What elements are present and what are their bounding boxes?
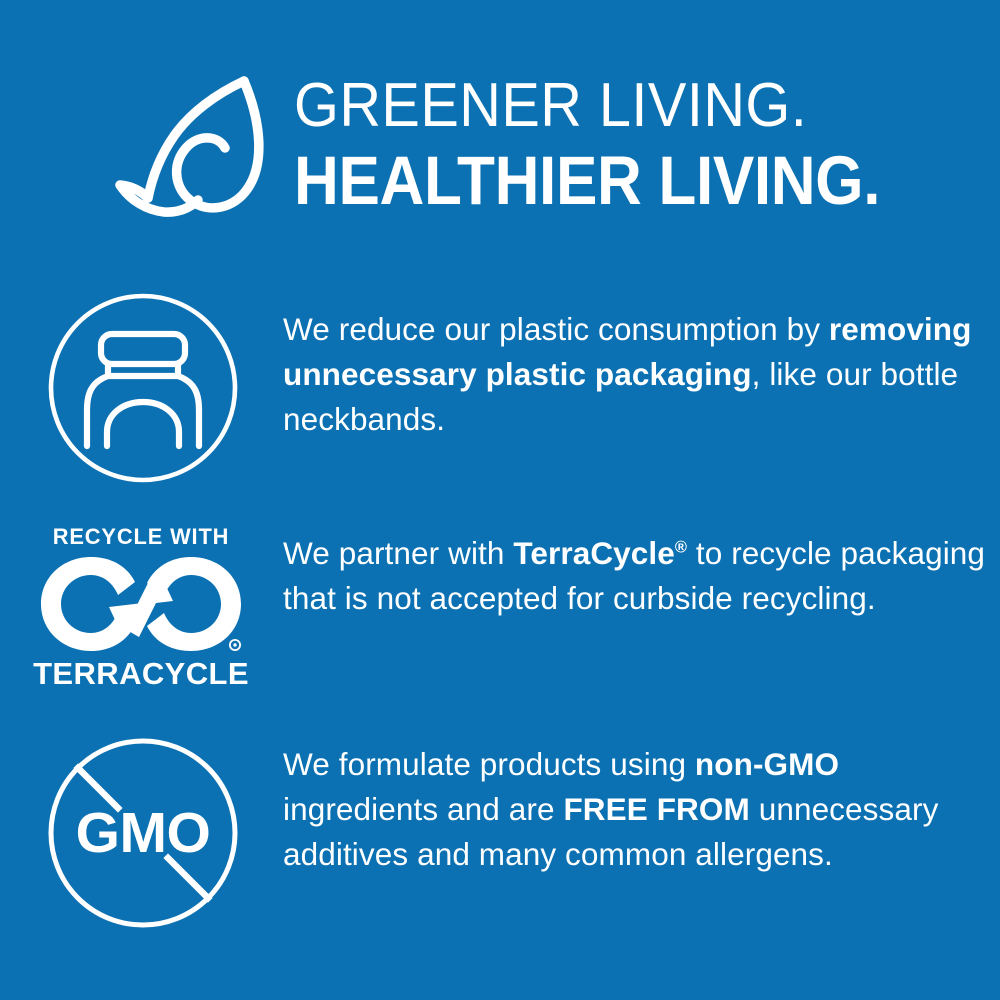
header: GREENER LIVING. HEALTHIER LIVING. xyxy=(0,62,1000,227)
terracycle-lockup: RECYCLE WITH xyxy=(35,526,247,689)
registered-mark-icon xyxy=(229,639,241,651)
feature-text-plastic-reduction: We reduce our plastic consumption by rem… xyxy=(280,288,1000,442)
terracycle-top-label: RECYCLE WITH xyxy=(53,526,230,549)
text-segment: We formulate products using xyxy=(283,746,695,782)
no-gmo-label: GMO xyxy=(76,801,211,865)
infinity-recycle-icon xyxy=(39,555,243,653)
text-segment-bold: non-GMO xyxy=(695,746,839,782)
headline-line-2: HEALTHIER LIVING. xyxy=(294,146,880,215)
text-segment-bold: TerraCycle xyxy=(513,535,675,571)
headline-block: GREENER LIVING. HEALTHIER LIVING. xyxy=(294,75,945,215)
feature-row-plastic-reduction: We reduce our plastic consumption by rem… xyxy=(0,288,1000,488)
registered-mark: ® xyxy=(675,539,687,557)
terracycle-logo: RECYCLE WITH xyxy=(0,515,280,700)
no-gmo-icon: GMO xyxy=(0,730,280,935)
leaf-icon xyxy=(112,72,280,222)
text-segment: ingredients and are xyxy=(283,791,563,827)
headline-line-1: GREENER LIVING. xyxy=(294,75,900,137)
text-segment: We partner with xyxy=(283,535,513,571)
text-segment: We reduce our plastic consumption by xyxy=(283,311,829,347)
text-segment-bold: FREE FROM xyxy=(563,791,749,827)
bottle-neckband-icon xyxy=(0,288,280,488)
feature-text-terracycle: We partner with TerraCycle® to recycle p… xyxy=(280,515,1000,621)
feature-text-non-gmo: We formulate products using non-GMO ingr… xyxy=(280,730,1000,877)
feature-row-terracycle: RECYCLE WITH xyxy=(0,515,1000,700)
terracycle-bottom-label: TERRACYCLE xyxy=(33,658,249,689)
feature-row-non-gmo: GMO We formulate products using non-GMO … xyxy=(0,730,1000,935)
greener-living-poster: GREENER LIVING. HEALTHIER LIVING. xyxy=(0,0,1000,1000)
